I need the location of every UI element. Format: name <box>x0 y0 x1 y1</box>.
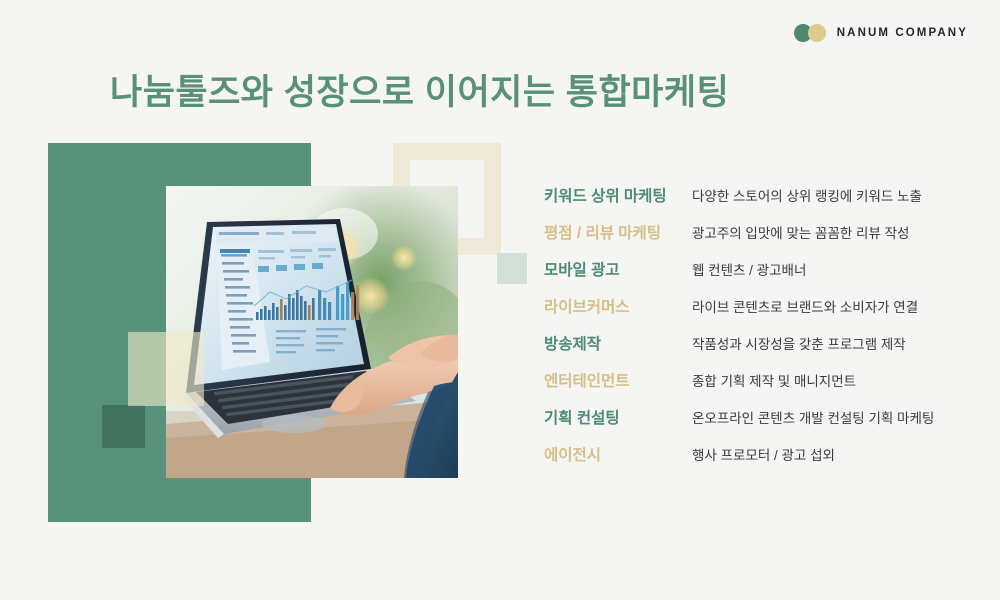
service-label: 키워드 상위 마케팅 <box>544 184 692 206</box>
decorative-dark-green-square <box>102 405 145 448</box>
service-description: 종합 기획 제작 및 매니지먼트 <box>692 370 856 390</box>
service-row: 평점 / 리뷰 마케팅 광고주의 입맛에 맞는 꼼꼼한 리뷰 작성 <box>544 221 974 258</box>
service-description: 다양한 스토어의 상위 랭킹에 키워드 노출 <box>692 185 922 205</box>
service-row: 엔터테인먼트 종합 기획 제작 및 매니지먼트 <box>544 369 974 406</box>
service-description: 웹 컨텐츠 / 광고배너 <box>692 259 806 279</box>
laptop-analytics-photo <box>166 186 458 478</box>
service-description: 행사 프로모터 / 광고 섭외 <box>692 444 835 464</box>
service-label: 에이전시 <box>544 443 692 465</box>
service-list: 키워드 상위 마케팅 다양한 스토어의 상위 랭킹에 키워드 노출 평점 / 리… <box>544 184 974 480</box>
logo-mark <box>794 24 828 42</box>
service-row: 라이브커머스 라이브 콘텐츠로 브랜드와 소비자가 연결 <box>544 295 974 332</box>
service-row: 에이전시 행사 프로모터 / 광고 섭외 <box>544 443 974 480</box>
service-row: 키워드 상위 마케팅 다양한 스토어의 상위 랭킹에 키워드 노출 <box>544 184 974 221</box>
image-collage <box>0 0 540 600</box>
service-label: 라이브커머스 <box>544 295 692 317</box>
decorative-mint-square <box>497 253 527 284</box>
service-description: 광고주의 입맛에 맞는 꼼꼼한 리뷰 작성 <box>692 222 909 242</box>
service-row: 방송제작 작품성과 시장성을 갖춘 프로그램 제작 <box>544 332 974 369</box>
service-label: 방송제작 <box>544 332 692 354</box>
decorative-cream-overlay <box>128 332 204 406</box>
logo-circle-tan-icon <box>808 24 826 42</box>
service-label: 평점 / 리뷰 마케팅 <box>544 221 692 243</box>
service-description: 라이브 콘텐츠로 브랜드와 소비자가 연결 <box>692 296 918 316</box>
brand-logo: NANUM COMPANY <box>794 24 968 42</box>
service-label: 엔터테인먼트 <box>544 369 692 391</box>
service-description: 온오프라인 콘텐츠 개발 컨설팅 기획 마케팅 <box>692 407 934 427</box>
service-description: 작품성과 시장성을 갖춘 프로그램 제작 <box>692 333 906 353</box>
service-row: 모바일 광고 웹 컨텐츠 / 광고배너 <box>544 258 974 295</box>
service-row: 기획 컨설팅 온오프라인 콘텐츠 개발 컨설팅 기획 마케팅 <box>544 406 974 443</box>
slide-canvas: NANUM COMPANY 나눔툴즈와 성장으로 이어지는 통합마케팅 <box>0 0 1000 600</box>
service-label: 기획 컨설팅 <box>544 406 692 428</box>
brand-name: NANUM COMPANY <box>837 27 968 39</box>
service-label: 모바일 광고 <box>544 258 692 280</box>
